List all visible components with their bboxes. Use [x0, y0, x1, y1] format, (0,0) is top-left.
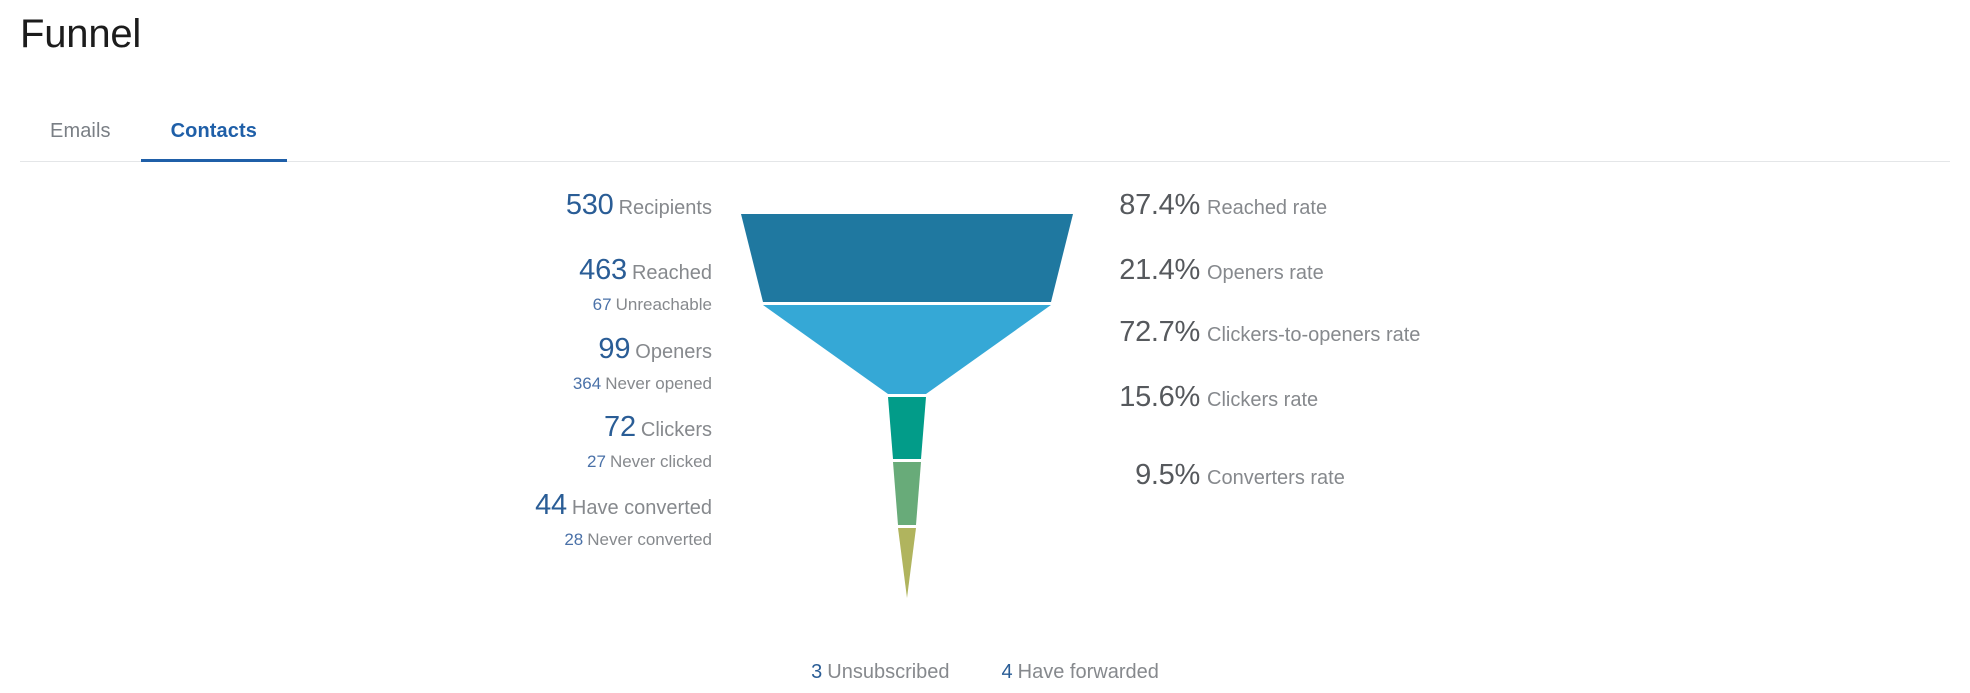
stat-clickers: 72Clickers 27Never clicked: [587, 412, 712, 475]
stat-unreachable-label: Unreachable: [616, 295, 712, 314]
funnel-segment-converted: [898, 528, 916, 598]
tab-contacts[interactable]: Contacts: [141, 102, 287, 161]
rate-clickers-value: 15.6%: [1100, 382, 1200, 412]
stat-clickers-label: Clickers: [641, 419, 712, 441]
rate-reached-value: 87.4%: [1100, 190, 1200, 220]
stat-unsubscribed-label: Unsubscribed: [827, 661, 949, 683]
stat-recipients-value: 530: [566, 189, 614, 221]
funnel-right-rates: 87.4%Reached rate 21.4%Openers rate 72.7…: [1100, 162, 1800, 592]
stat-never-opened-value: 364: [573, 374, 601, 393]
stat-have-converted-label: Have converted: [572, 497, 712, 519]
funnel-footer-stats: 3Unsubscribed 4Have forwarded: [0, 653, 1970, 693]
stat-never-clicked-value: 27: [587, 452, 606, 471]
stat-openers-value: 99: [598, 333, 630, 365]
stat-recipients: 530Recipients: [566, 190, 712, 225]
stat-unreachable-value: 67: [593, 295, 612, 314]
rate-converters-value: 9.5%: [1100, 460, 1200, 490]
stat-have-forwarded: 4Have forwarded: [1002, 658, 1159, 688]
rate-openers-label: Openers rate: [1207, 262, 1324, 284]
stat-have-forwarded-value: 4: [1002, 661, 1013, 683]
stat-have-converted: 44Have converted 28Never converted: [535, 490, 712, 553]
page-title: Funnel: [20, 8, 141, 60]
stat-never-opened-label: Never opened: [605, 374, 712, 393]
stat-reached: 463Reached 67Unreachable: [579, 255, 712, 318]
funnel-segment-recipients: [741, 214, 1073, 302]
rate-reached-label: Reached rate: [1207, 197, 1327, 219]
stat-recipients-label: Recipients: [619, 197, 712, 219]
funnel-segment-reached: [763, 305, 1051, 394]
funnel-segment-openers: [888, 397, 926, 459]
rate-openers-value: 21.4%: [1100, 255, 1200, 285]
rate-clickers-label: Clickers rate: [1207, 389, 1318, 411]
rate-converters: 9.5%Converters rate: [1100, 460, 1345, 495]
stat-never-converted-label: Never converted: [587, 530, 712, 549]
rate-clickers-to-openers: 72.7%Clickers-to-openers rate: [1100, 317, 1420, 352]
stat-openers-label: Openers: [635, 341, 712, 363]
rate-clickers-to-openers-value: 72.7%: [1100, 317, 1200, 347]
funnel-chart-region: 530Recipients 463Reached 67Unreachable 9…: [0, 162, 1970, 688]
rate-clickers: 15.6%Clickers rate: [1100, 382, 1318, 417]
stat-reached-label: Reached: [632, 262, 712, 284]
funnel-graphic: [737, 214, 1077, 624]
funnel-left-stats: 530Recipients 463Reached 67Unreachable 9…: [0, 162, 712, 592]
tab-emails[interactable]: Emails: [20, 102, 141, 161]
stat-never-clicked-label: Never clicked: [610, 452, 712, 471]
stat-unsubscribed-value: 3: [811, 661, 822, 683]
stat-unsubscribed: 3Unsubscribed: [811, 658, 949, 688]
stat-have-forwarded-label: Have forwarded: [1018, 661, 1159, 683]
stat-have-converted-value: 44: [535, 489, 567, 521]
stat-never-converted-value: 28: [564, 530, 583, 549]
rate-reached: 87.4%Reached rate: [1100, 190, 1327, 225]
stat-openers: 99Openers 364Never opened: [573, 334, 712, 397]
funnel-segment-clickers: [893, 462, 921, 525]
rate-clickers-to-openers-label: Clickers-to-openers rate: [1207, 324, 1420, 346]
rate-converters-label: Converters rate: [1207, 467, 1345, 489]
rate-openers: 21.4%Openers rate: [1100, 255, 1324, 290]
stat-reached-value: 463: [579, 254, 627, 286]
stat-clickers-value: 72: [604, 411, 636, 443]
tab-bar: Emails Contacts: [20, 102, 1950, 162]
funnel-page: Funnel Emails Contacts 530Recipients 463…: [0, 0, 1970, 688]
